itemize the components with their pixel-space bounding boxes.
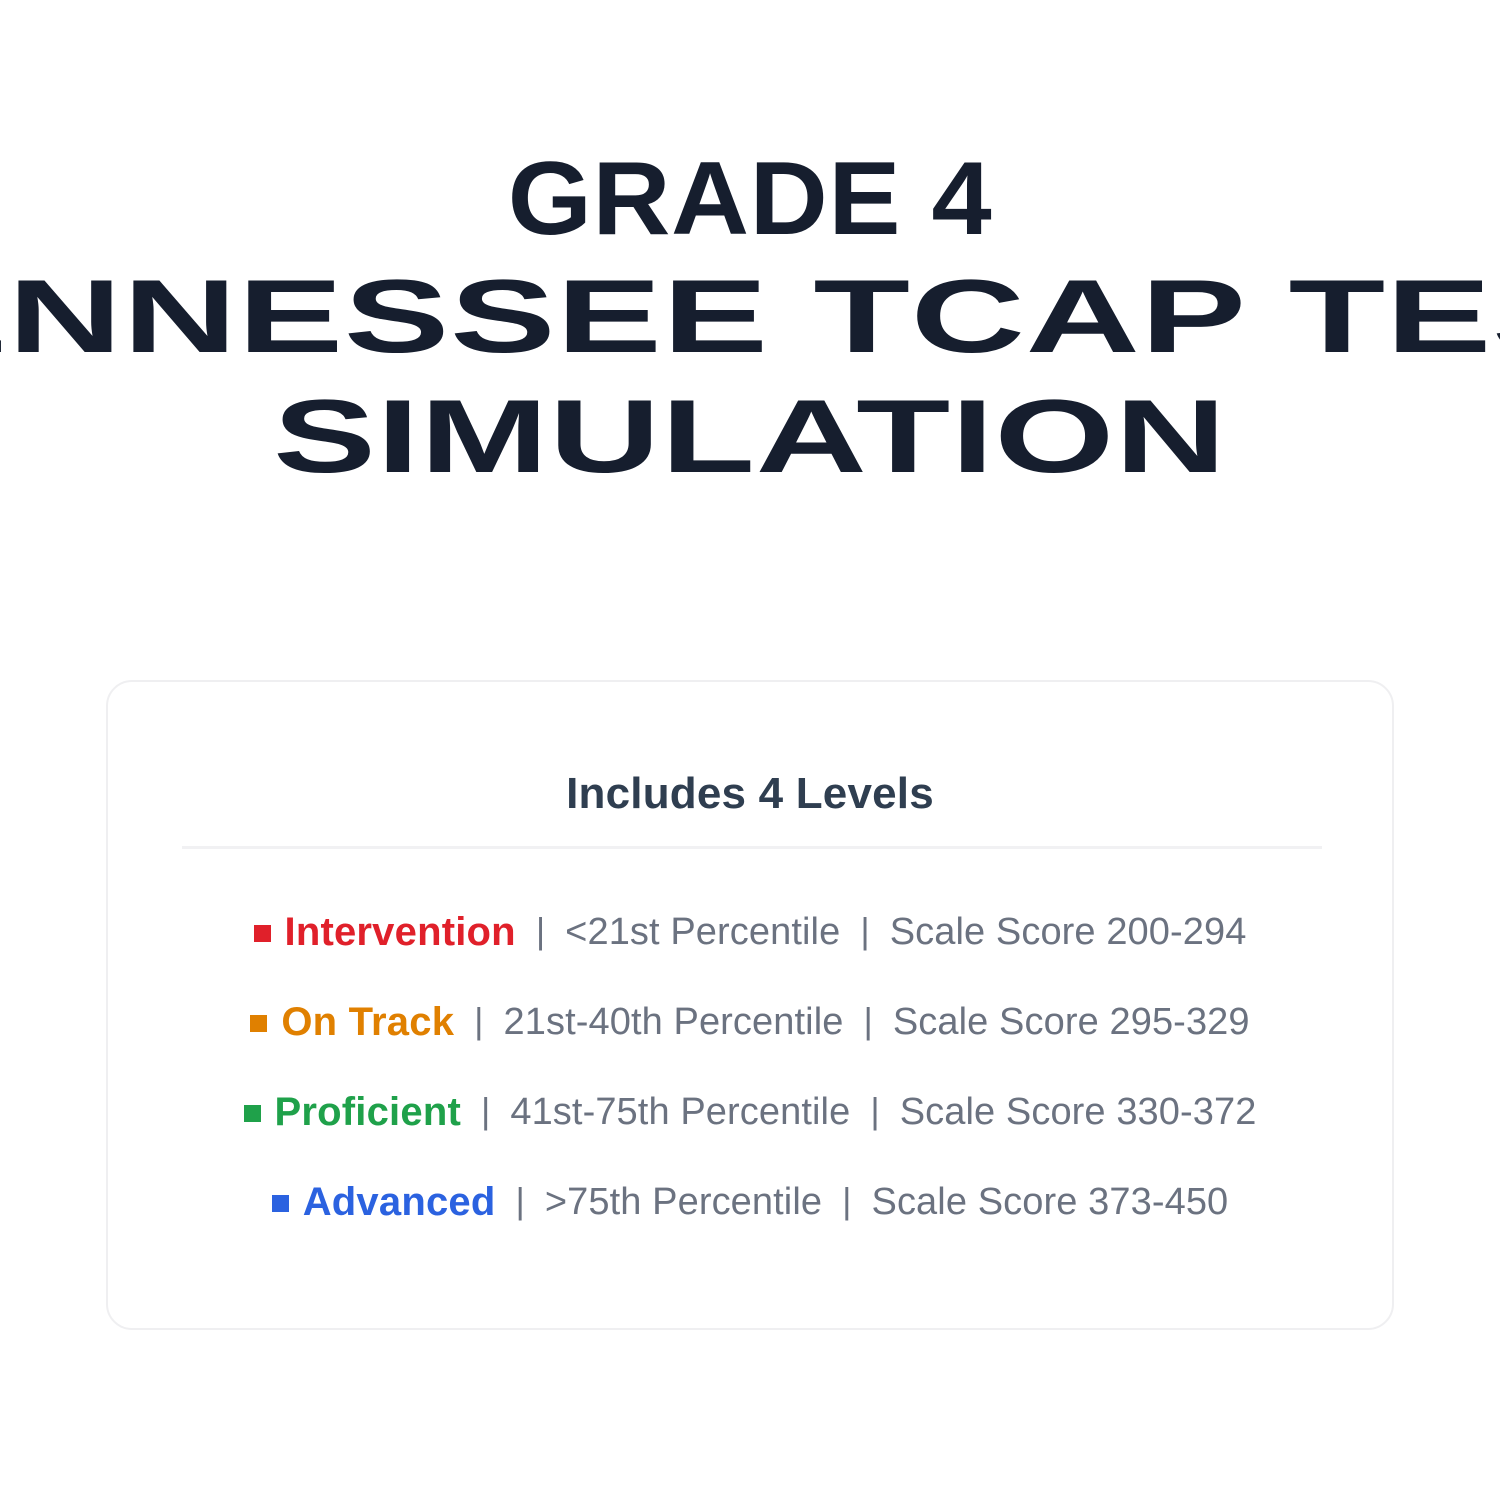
separator-pipe: | (842, 1180, 851, 1222)
separator-pipe: | (474, 1000, 483, 1042)
card-divider (182, 846, 1322, 849)
separator-pipe: | (870, 1090, 879, 1132)
levels-card: Includes 4 Levels Intervention | <21st P… (106, 680, 1394, 1330)
separator-pipe: | (536, 910, 545, 952)
level-name: Intervention (285, 910, 516, 955)
list-item: Intervention | <21st Percentile | Scale … (108, 887, 1392, 977)
level-swatch-icon (244, 1105, 261, 1122)
levels-list: Intervention | <21st Percentile | Scale … (108, 887, 1392, 1247)
list-item: On Track | 21st-40th Percentile | Scale … (108, 977, 1392, 1067)
level-percentile: 21st-40th Percentile (504, 1001, 844, 1044)
level-scale-score: Scale Score 200-294 (890, 911, 1247, 954)
level-scale-score: Scale Score 330-372 (900, 1091, 1257, 1134)
separator-pipe: | (860, 910, 869, 952)
level-swatch-icon (254, 925, 271, 942)
separator-pipe: | (515, 1180, 524, 1222)
level-scale-score: Scale Score 373-450 (872, 1181, 1229, 1224)
level-name: On Track (281, 1000, 454, 1045)
title-line-grade: GRADE 4 (0, 146, 1500, 252)
level-name: Proficient (275, 1090, 461, 1135)
level-percentile: <21st Percentile (565, 911, 840, 954)
level-name: Advanced (303, 1180, 496, 1225)
card-heading: Includes 4 Levels (108, 769, 1392, 819)
level-percentile: 41st-75th Percentile (510, 1091, 850, 1134)
level-scale-score: Scale Score 295-329 (893, 1001, 1250, 1044)
level-percentile: >75th Percentile (545, 1181, 822, 1224)
list-item: Proficient | 41st-75th Percentile | Scal… (108, 1067, 1392, 1157)
title-line-test: TENNESSEE TCAP TEST (0, 264, 1500, 370)
title-line-simulation: SIMULATION (0, 384, 1500, 490)
list-item: Advanced | >75th Percentile | Scale Scor… (108, 1157, 1392, 1247)
poster-page: GRADE 4 TENNESSEE TCAP TEST SIMULATION I… (0, 0, 1500, 1500)
separator-pipe: | (863, 1000, 872, 1042)
separator-pipe: | (481, 1090, 490, 1132)
page-title: GRADE 4 TENNESSEE TCAP TEST SIMULATION (0, 146, 1500, 490)
level-swatch-icon (272, 1195, 289, 1212)
level-swatch-icon (250, 1015, 267, 1032)
